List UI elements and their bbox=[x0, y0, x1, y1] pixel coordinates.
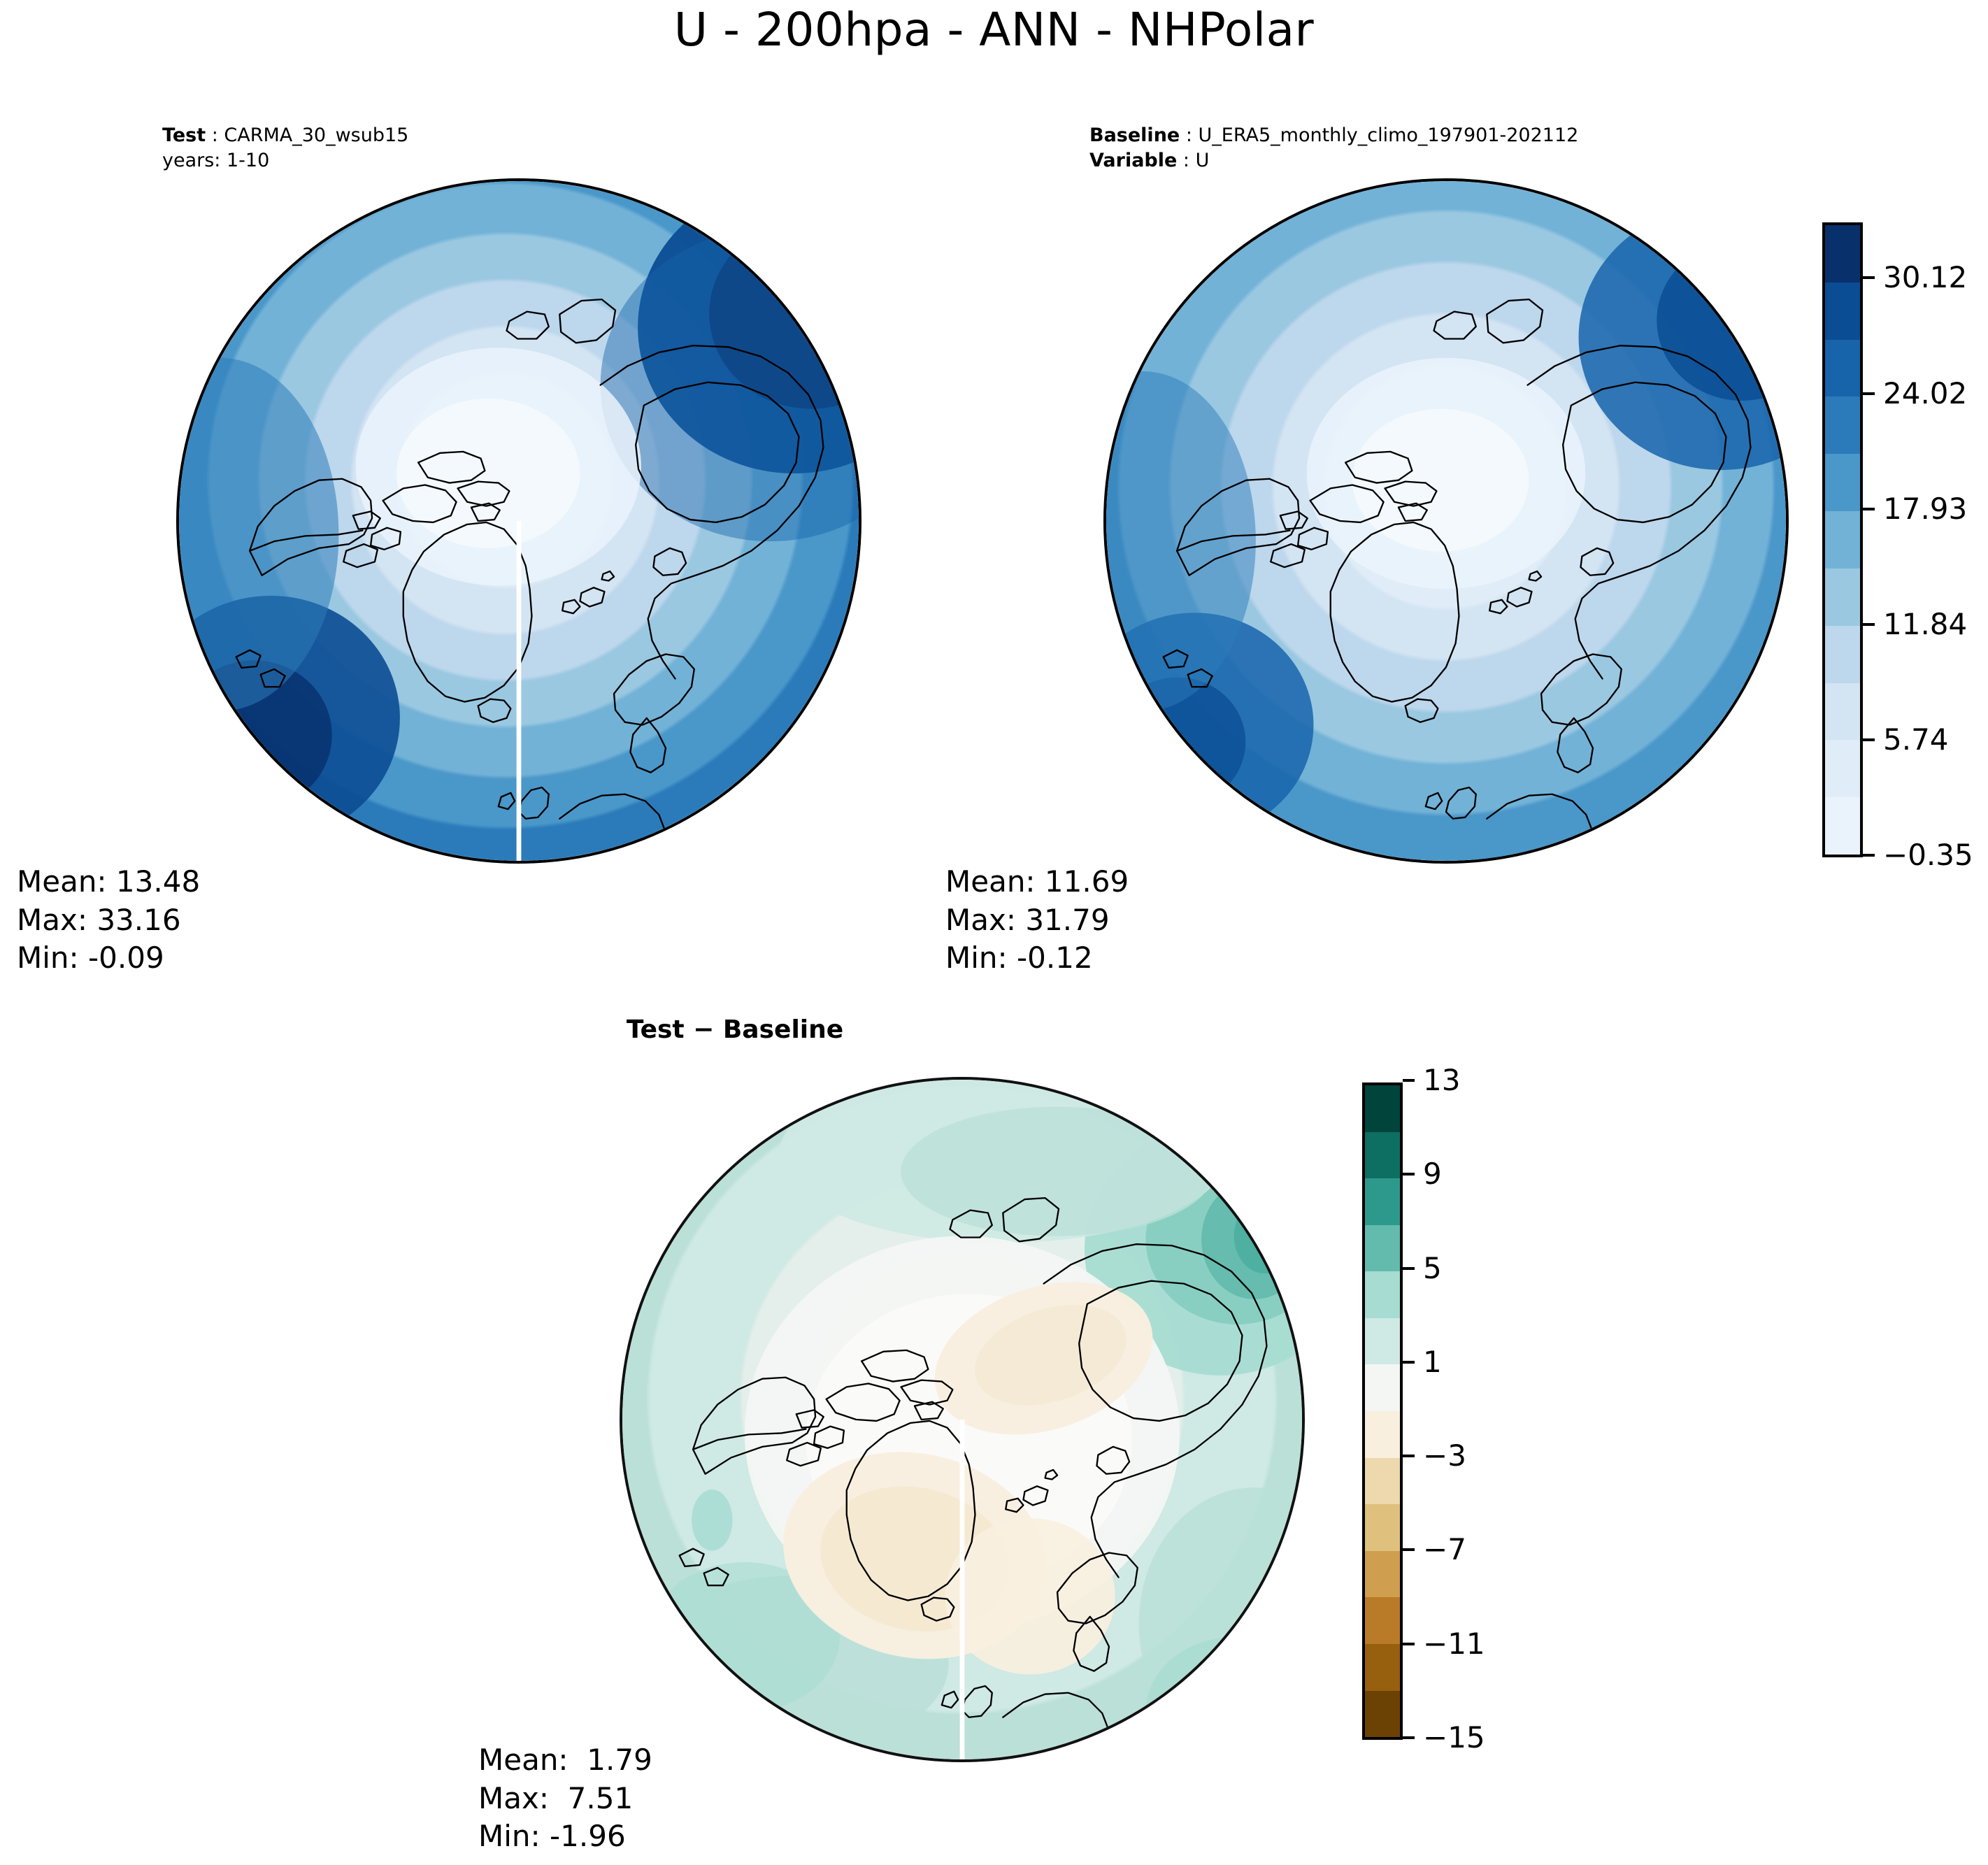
tick-dash-icon bbox=[1403, 1548, 1415, 1551]
colorbar-tick: −11 bbox=[1403, 1629, 1485, 1659]
baseline-map-svg bbox=[1106, 181, 1786, 861]
colorbar-tick-label: 13 bbox=[1423, 1066, 1460, 1095]
baseline-meta-key: Baseline bbox=[1089, 124, 1180, 146]
test-meta-sep: : bbox=[206, 124, 224, 146]
baseline-panel-meta: Baseline : U_ERA5_monthly_climo_197901-2… bbox=[1089, 123, 1578, 173]
difference-colorbar-ticks: 13951−3−7−11−15 bbox=[1362, 1082, 1523, 1740]
colorbar-tick-label: 5.74 bbox=[1883, 725, 1949, 755]
colorbar-tick: −3 bbox=[1403, 1441, 1466, 1471]
tick-dash-icon bbox=[1403, 1736, 1415, 1739]
baseline-stats-block: Mean: 11.69Max: 31.79Min: -0.12 bbox=[945, 863, 1129, 978]
baseline-max: Max: 31.79 bbox=[945, 903, 1110, 937]
difference-min: Min: -1.96 bbox=[478, 1819, 626, 1853]
colorbar-tick: 24.02 bbox=[1863, 379, 1967, 408]
baseline-meta-value: U_ERA5_monthly_climo_197901-202112 bbox=[1199, 124, 1579, 146]
colorbar-tick-label: −15 bbox=[1423, 1723, 1485, 1752]
colorbar-tick-label: 17.93 bbox=[1883, 494, 1967, 524]
difference-mean: Mean: 1.79 bbox=[478, 1743, 652, 1777]
colorbar-tick-label: 24.02 bbox=[1883, 379, 1967, 408]
variable-meta-key: Variable bbox=[1089, 150, 1177, 171]
difference-panel-title: Test − Baseline bbox=[620, 1015, 850, 1044]
colorbar-tick: 5 bbox=[1403, 1254, 1442, 1283]
tick-dash-icon bbox=[1863, 854, 1875, 857]
test-meta-years: years: 1-10 bbox=[162, 150, 269, 171]
test-map-svg bbox=[179, 181, 859, 861]
tick-dash-icon bbox=[1863, 508, 1875, 510]
test-map-disc bbox=[176, 178, 861, 864]
tick-dash-icon bbox=[1403, 1079, 1415, 1082]
figure-canvas: U - 200hpa - ANN - NHPolar Test : CARMA_… bbox=[0, 0, 1988, 1865]
colorbar-tick-label: 1 bbox=[1423, 1348, 1442, 1377]
colorbar-tick: −15 bbox=[1403, 1723, 1485, 1752]
colorbar-tick-label: −0.35 bbox=[1883, 841, 1973, 870]
baseline-contour-fill bbox=[1106, 181, 1786, 861]
colorbar-tick-label: 30.12 bbox=[1883, 263, 1967, 292]
main-colorbar-ticks: 30.1224.0217.9311.845.74−0.35 bbox=[1822, 222, 1983, 857]
tick-dash-icon bbox=[1863, 738, 1875, 741]
test-stats-block: Mean: 13.48Max: 33.16Min: -0.09 bbox=[17, 863, 200, 978]
difference-map-disc bbox=[620, 1077, 1305, 1762]
test-mean: Mean: 13.48 bbox=[17, 864, 200, 899]
colorbar-tick: 11.84 bbox=[1863, 610, 1967, 639]
variable-meta-value: U bbox=[1196, 150, 1210, 171]
tick-dash-icon bbox=[1863, 392, 1875, 395]
colorbar-tick: 1 bbox=[1403, 1348, 1442, 1377]
colorbar-tick: 30.12 bbox=[1863, 263, 1967, 292]
colorbar-tick: −0.35 bbox=[1863, 841, 1973, 870]
test-min: Min: -0.09 bbox=[17, 941, 164, 975]
main-colorbar[interactable]: 30.1224.0217.9311.845.74−0.35 bbox=[1822, 222, 1983, 857]
test-max: Max: 33.16 bbox=[17, 903, 181, 937]
difference-colorbar[interactable]: 13951−3−7−11−15 bbox=[1362, 1082, 1523, 1740]
colorbar-tick: −7 bbox=[1403, 1535, 1466, 1564]
baseline-meta-sep: : bbox=[1180, 124, 1198, 146]
tick-dash-icon bbox=[1403, 1455, 1415, 1457]
colorbar-tick: 9 bbox=[1403, 1159, 1442, 1189]
baseline-min: Min: -0.12 bbox=[945, 941, 1093, 975]
baseline-mean: Mean: 11.69 bbox=[945, 864, 1129, 899]
colorbar-tick-label: 9 bbox=[1423, 1159, 1442, 1189]
tick-dash-icon bbox=[1403, 1267, 1415, 1270]
tick-dash-icon bbox=[1403, 1643, 1415, 1645]
colorbar-tick: 13 bbox=[1403, 1066, 1460, 1095]
colorbar-tick-label: −7 bbox=[1423, 1535, 1466, 1564]
difference-max: Max: 7.51 bbox=[478, 1781, 633, 1815]
tick-dash-icon bbox=[1403, 1361, 1415, 1364]
difference-map-svg bbox=[622, 1080, 1302, 1759]
test-panel-meta: Test : CARMA_30_wsub15years: 1-10 bbox=[162, 123, 408, 173]
colorbar-tick: 17.93 bbox=[1863, 494, 1967, 524]
variable-meta-sep: : bbox=[1177, 150, 1195, 171]
baseline-map-disc bbox=[1103, 178, 1789, 864]
test-meta-value: CARMA_30_wsub15 bbox=[224, 124, 408, 146]
colorbar-tick-label: 11.84 bbox=[1883, 610, 1967, 639]
colorbar-tick-label: −11 bbox=[1423, 1629, 1485, 1659]
colorbar-tick: 5.74 bbox=[1863, 725, 1949, 755]
tick-dash-icon bbox=[1403, 1173, 1415, 1176]
page-title: U - 200hpa - ANN - NHPolar bbox=[0, 7, 1988, 53]
difference-stats-block: Mean: 1.79Max: 7.51Min: -1.96 bbox=[478, 1741, 652, 1856]
tick-dash-icon bbox=[1863, 276, 1875, 279]
test-meta-key: Test bbox=[162, 124, 206, 146]
colorbar-tick-label: −3 bbox=[1423, 1441, 1466, 1471]
colorbar-tick-label: 5 bbox=[1423, 1254, 1442, 1283]
tick-dash-icon bbox=[1863, 623, 1875, 626]
